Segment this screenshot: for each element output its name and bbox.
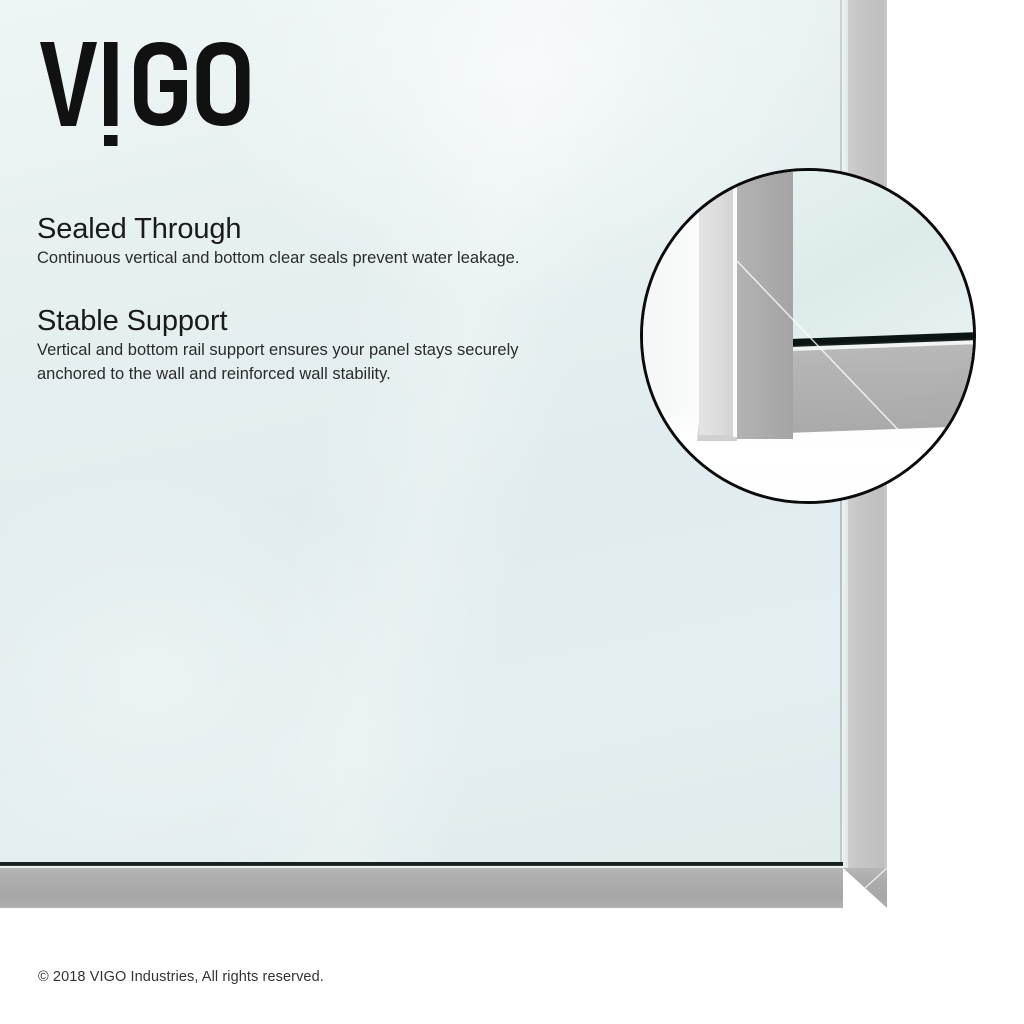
frame-corner-miter-line xyxy=(843,868,887,908)
copyright-notice: © 2018 VIGO Industries, All rights reser… xyxy=(38,969,324,985)
feature-title: Sealed Through xyxy=(37,213,537,245)
feature-copy-block: Sealed Through Continuous vertical and b… xyxy=(37,213,537,386)
feature-body: Vertical and bottom rail support ensures… xyxy=(37,339,537,386)
vigo-logo xyxy=(40,38,250,146)
frame-corner-detail-magnifier xyxy=(640,168,976,504)
magnifier-contents xyxy=(643,171,973,501)
feature-stable-support: Stable Support Vertical and bottom rail … xyxy=(37,305,537,386)
magnified-miter-joint-line xyxy=(737,261,907,439)
product-feature-image: Sealed Through Continuous vertical and b… xyxy=(0,0,1024,1024)
frame-rail-bottom xyxy=(0,868,887,908)
feature-sealed-through: Sealed Through Continuous vertical and b… xyxy=(37,213,537,271)
feature-body: Continuous vertical and bottom clear sea… xyxy=(37,247,537,270)
magnified-rail-side-face xyxy=(699,168,735,435)
feature-title: Stable Support xyxy=(37,305,537,337)
